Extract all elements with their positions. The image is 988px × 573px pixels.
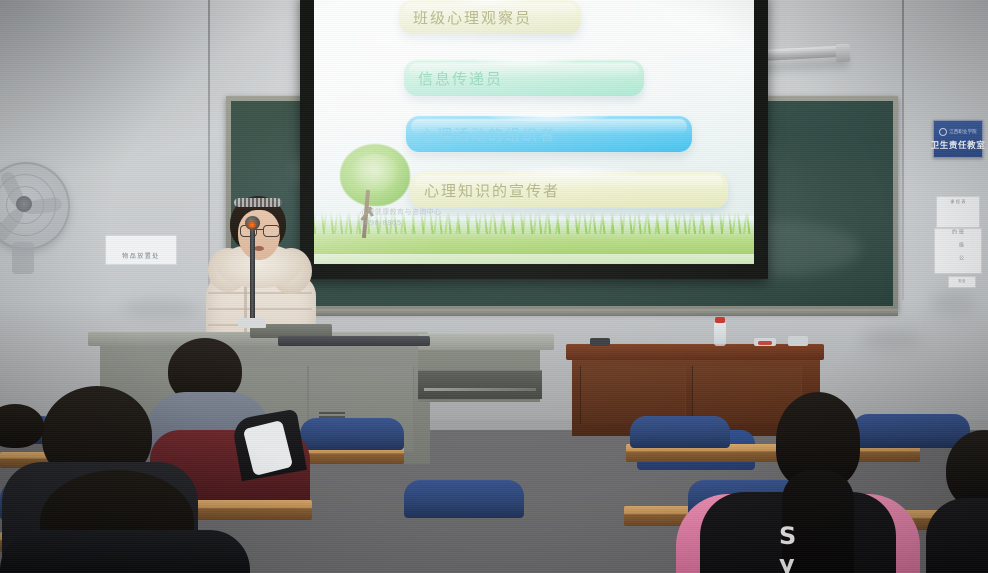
notice-small: 安全: [948, 276, 976, 288]
notice-upper: 课 程 表: [936, 196, 980, 228]
sign-school-row: 江西职业学院: [939, 128, 977, 136]
lectern-drawer-rail: [424, 388, 536, 391]
slide-pill-2-label: 信息传递员: [404, 68, 503, 89]
water-bottle-cap: [715, 317, 725, 323]
projection-screen-case: 班级心理观察员 信息传递员 心理活动的组织者 心理知识的宣传者 心理健康: [300, 0, 768, 279]
water-bottle-icon: [714, 322, 726, 346]
lectern-drawer[interactable]: [418, 370, 542, 399]
chair-c[interactable]: [630, 416, 730, 448]
wall-placard-label: 物品放置处: [122, 251, 160, 264]
desk-item-red: [758, 341, 772, 345]
wooden-podium-top: [566, 344, 824, 360]
microphone-led-indicator: [248, 222, 256, 228]
wall-placard: 物品放置处: [105, 235, 177, 265]
slide-pill-1-label: 班级心理观察员: [399, 7, 532, 28]
sign-school-name: 江西职业学院: [949, 129, 977, 135]
notice-lower: 班 级 公 约: [934, 228, 982, 274]
notice-upper-label: 课 程 表: [937, 197, 979, 207]
slide-footer-line2: 8698-8905: [360, 218, 441, 229]
presenter-mouth: [254, 246, 264, 251]
notice-lower-label: 班 级 公 约: [951, 229, 965, 273]
school-logo-icon: [939, 128, 947, 136]
desk-row1-left: [178, 500, 312, 520]
slide-pill-3: 心理活动的组织者: [406, 116, 692, 152]
lectern-paper-stack: [238, 318, 266, 328]
slide-footer: 心理健康教育与咨询中心 8698-8905: [360, 207, 441, 228]
student-jacket-logo: S y: [779, 522, 798, 573]
chair-e[interactable]: [404, 480, 524, 518]
wall-smudge-4: [930, 290, 976, 316]
chair-d[interactable]: [852, 414, 970, 448]
hygiene-responsibility-sign: 江西职业学院 卫生责任教室: [933, 120, 983, 158]
lectern-top-surface-right: [418, 334, 554, 350]
classroom-photo: 班级心理观察员 信息传递员 心理活动的组织者 心理知识的宣传者 心理健康: [0, 0, 988, 573]
desk-item-dark: [590, 338, 610, 346]
wall-seam-right: [902, 0, 904, 300]
presenter-hairband: [234, 198, 282, 207]
chair-b[interactable]: [300, 418, 404, 450]
student-front-left-torso: [0, 530, 250, 573]
wall-smudge-3: [860, 330, 920, 350]
slide-bottom-bar: [314, 254, 754, 264]
slide-pill-1: 班级心理观察员: [399, 0, 581, 34]
projection-screen: 班级心理观察员 信息传递员 心理活动的组织者 心理知识的宣传者 心理健康: [314, 0, 754, 264]
sign-main-label: 卫生责任教室: [931, 139, 986, 151]
desk-item-box: [788, 336, 808, 346]
wall-smudge-1: [120, 300, 200, 318]
slide-pill-3-label: 心理活动的组织者: [406, 124, 556, 145]
slide-footer-line1: 心理健康教育与咨询中心: [360, 207, 441, 218]
slide-pill-4-label: 心理知识的宣传者: [410, 180, 560, 201]
lectern-keyboard[interactable]: [278, 336, 430, 346]
slide-pill-2: 信息传递员: [404, 60, 644, 96]
fluorescent-tube-end-cap: [836, 44, 851, 63]
slide-pill-4: 心理知识的宣传者: [410, 172, 728, 208]
wall-fan-icon: [0, 158, 70, 276]
notice-small-label: 安全: [949, 277, 975, 286]
